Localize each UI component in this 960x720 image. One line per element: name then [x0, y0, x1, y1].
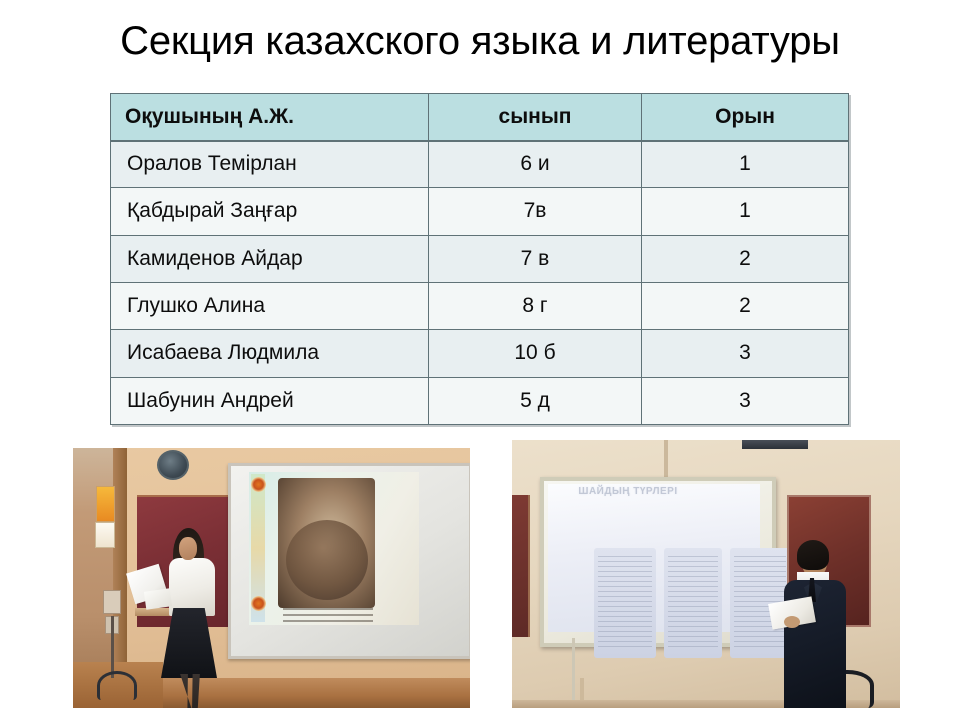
- student-girl-papers-second: [144, 588, 172, 609]
- column-header-student-name: Оқушының А.Ж.: [111, 94, 429, 141]
- wall-poster-white: [95, 522, 115, 548]
- slide-ornament-top-icon: [251, 477, 266, 492]
- table-row: Камиденов Айдар 7 в 2: [111, 235, 849, 282]
- cell-student-name: Шабунин Андрей: [111, 377, 429, 424]
- table-row: Оралов Темірлан 6 и 1: [111, 141, 849, 188]
- cell-student-name: Исабаева Людмила: [111, 330, 429, 377]
- cell-class: 5 д: [429, 377, 642, 424]
- whiteboard-surface: ШАЙДЫҢ ТҮРЛЕРІ: [548, 484, 760, 632]
- cell-class: 8 г: [429, 282, 642, 329]
- cell-class: 7в: [429, 188, 642, 235]
- column-header-class: сынып: [429, 94, 642, 141]
- column-header-place: Орын: [642, 94, 849, 141]
- cell-class: 10 б: [429, 330, 642, 377]
- wall-socket: [103, 590, 121, 614]
- results-table: Оқушының А.Ж. сынып Орын Оралов Темірлан…: [110, 93, 849, 425]
- classroom-chair: [97, 671, 137, 700]
- slide-ornament-bottom-icon: [251, 596, 266, 611]
- results-table-container: Оқушының А.Ж. сынып Орын Оралов Темірлан…: [110, 93, 848, 425]
- cell-student-name: Қабдырай Заңғар: [111, 188, 429, 235]
- table-header: Оқушының А.Ж. сынып Орын: [111, 94, 849, 141]
- photo-right-presentation: ШАЙДЫҢ ТҮРЛЕРІ: [512, 440, 900, 708]
- whiteboard-title-text: ШАЙДЫҢ ТҮРЛЕРІ: [548, 484, 708, 498]
- table-row: Шабунин Андрей 5 д 3: [111, 377, 849, 424]
- table-row: Қабдырай Заңғар 7в 1: [111, 188, 849, 235]
- slide-caption-text: [283, 608, 373, 622]
- cell-student-name: Камиденов Айдар: [111, 235, 429, 282]
- slide-canvas: Секция казахского языка и литературы Оқу…: [0, 0, 960, 720]
- wall-seam-upper: [664, 440, 668, 478]
- table-row: Глушко Алина 8 г 2: [111, 282, 849, 329]
- whiteboard-text-lines: [668, 556, 718, 650]
- wall-plaque-left: [512, 495, 530, 637]
- student-girl-blouse: [169, 558, 215, 616]
- cell-place: 2: [642, 282, 849, 329]
- student-boy-hand: [784, 616, 800, 628]
- photo-left-presentation: [73, 448, 470, 708]
- cell-student-name: Оралов Темірлан: [111, 141, 429, 188]
- whiteboard-text-lines: [598, 556, 652, 650]
- cell-place: 2: [642, 235, 849, 282]
- wall-poster-orange: [96, 486, 115, 522]
- table-row: Исабаева Людмила 10 б 3: [111, 330, 849, 377]
- cell-place: 1: [642, 141, 849, 188]
- whiteboard-stand-leg: [572, 638, 575, 704]
- cell-place: 1: [642, 188, 849, 235]
- cell-class: 6 и: [429, 141, 642, 188]
- wall-cable: [111, 616, 114, 678]
- slide-photo-bowl: [286, 520, 368, 600]
- whiteboard-column-1: [594, 548, 656, 658]
- student-boy-hair: [797, 540, 829, 570]
- table-header-row: Оқушының А.Ж. сынып Орын: [111, 94, 849, 141]
- table-body: Оралов Темірлан 6 и 1 Қабдырай Заңғар 7в…: [111, 141, 849, 425]
- ceiling-fixture: [742, 440, 808, 449]
- cell-student-name: Глушко Алина: [111, 282, 429, 329]
- whiteboard-column-2: [664, 548, 722, 658]
- cell-place: 3: [642, 330, 849, 377]
- student-girl-face: [179, 537, 197, 560]
- cell-place: 3: [642, 377, 849, 424]
- page-title: Секция казахского языка и литературы: [0, 18, 960, 64]
- cell-class: 7 в: [429, 235, 642, 282]
- wall-clock-icon: [157, 450, 189, 480]
